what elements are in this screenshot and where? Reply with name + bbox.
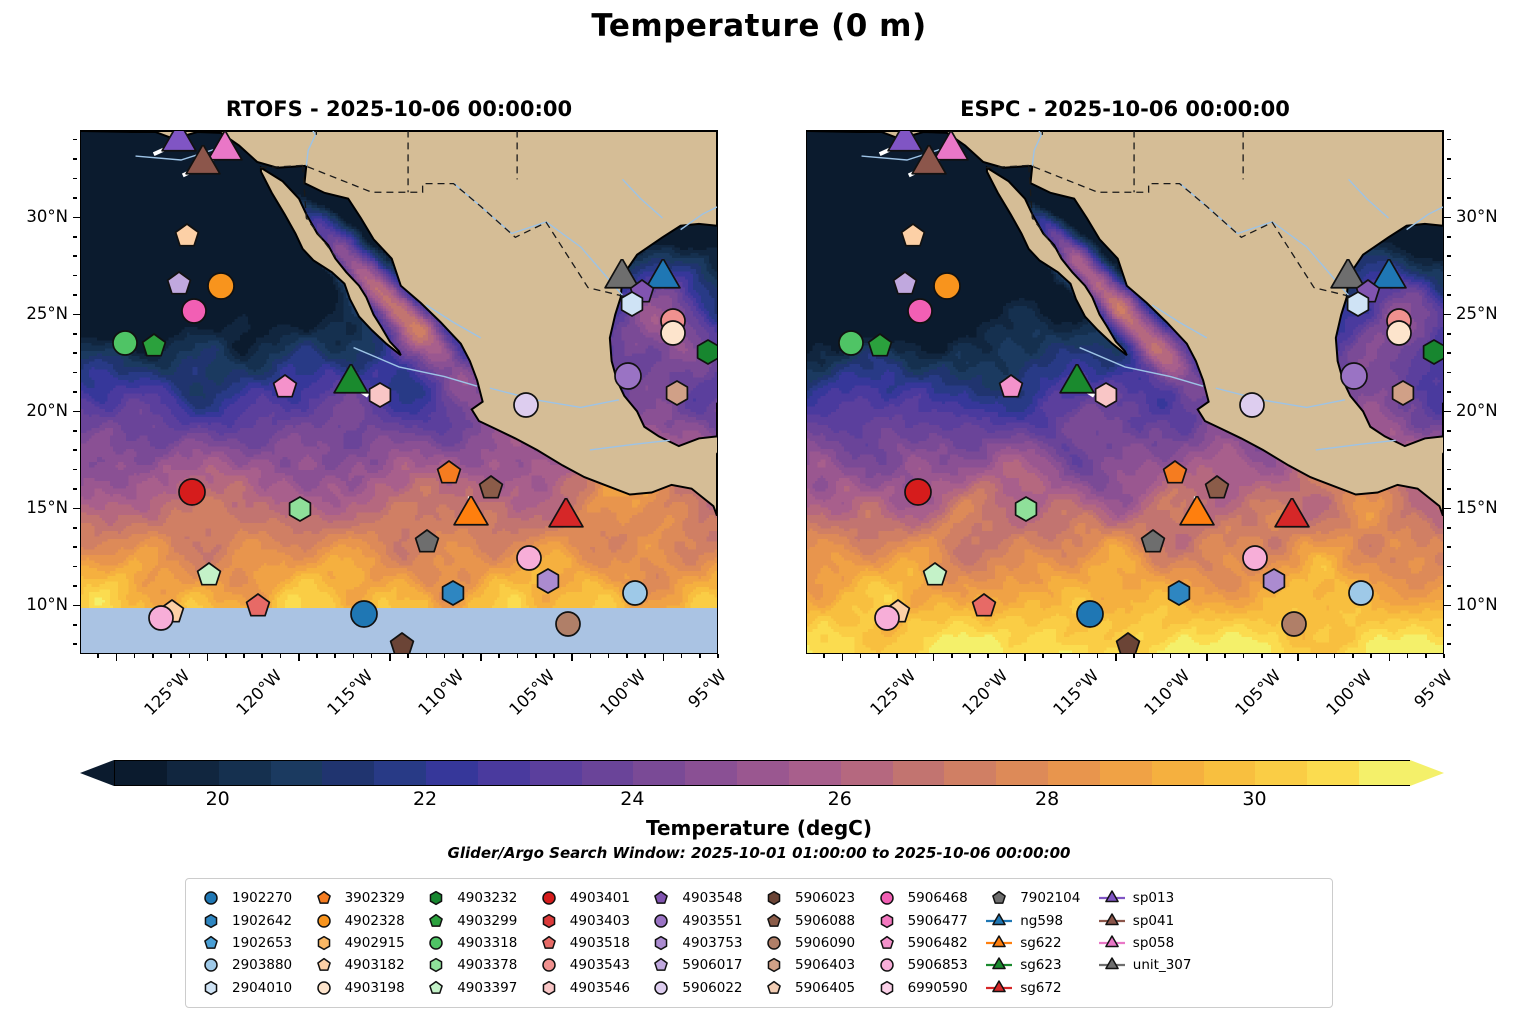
ytick-minor — [1447, 624, 1451, 626]
xtick-label: 115°W — [1049, 666, 1102, 719]
xtick-minor — [915, 654, 917, 658]
colorbar-segment — [893, 761, 945, 785]
legend-item-5906023[interactable]: 5906023 — [759, 887, 872, 909]
xtick-minor — [535, 654, 537, 658]
ytick-minor — [73, 488, 77, 490]
map-marker-sg623[interactable] — [1058, 364, 1096, 406]
legend-marker-circle-icon — [196, 955, 226, 975]
xtick-minor — [426, 654, 428, 658]
map-marker-5906403[interactable] — [663, 379, 691, 411]
map-marker-5906022[interactable] — [512, 391, 540, 423]
map-marker-4903551[interactable] — [1339, 361, 1369, 395]
map-canvas-espc — [807, 131, 1443, 653]
figure-root: Temperature (0 m) RTOFS - 2025-10-06 00:… — [0, 0, 1518, 1014]
xtick-minor — [1370, 654, 1372, 658]
legend-marker-circle-icon — [872, 955, 902, 975]
panel-title-rtofs: RTOFS - 2025-10-06 00:00:00 — [80, 97, 718, 121]
legend-item-4903318[interactable]: 4903318 — [421, 932, 534, 954]
ytick-label: 30°N — [0, 207, 68, 226]
map-marker-4903518[interactable] — [970, 592, 998, 624]
colorbar-extend-max — [1410, 760, 1444, 786]
ytick-minor — [1447, 488, 1451, 490]
xtick-minor — [97, 654, 99, 658]
map-marker-4903397[interactable] — [195, 561, 223, 593]
legend-grid: 1902270190264219026532903880290401039023… — [196, 887, 1322, 999]
ytick-major — [73, 508, 80, 510]
map-marker-5906482[interactable] — [271, 373, 299, 405]
legend-marker-hexagon-icon — [196, 978, 226, 998]
colorbar-segment — [582, 761, 634, 785]
legend-label: 4903401 — [570, 890, 630, 906]
legend-label: 5906023 — [795, 890, 855, 906]
ytick-minor — [1447, 527, 1451, 529]
colorbar-segment — [1100, 761, 1152, 785]
legend-marker-pentagon-icon — [196, 933, 226, 953]
ytick-minor — [73, 566, 77, 568]
xtick-minor — [1006, 654, 1008, 658]
legend-item-4902915[interactable]: 4902915 — [309, 932, 422, 954]
ytick-minor — [73, 139, 77, 141]
legend-label: 4903182 — [345, 957, 405, 973]
xtick-label: 95°W — [685, 666, 731, 712]
legend-marker-hexagon-icon — [759, 955, 789, 975]
ytick-major — [1444, 217, 1451, 219]
ytick-minor — [1447, 158, 1451, 160]
map-frame-espc[interactable] — [806, 130, 1444, 654]
map-marker-2903880[interactable] — [621, 579, 649, 611]
ytick-label: 25°N — [0, 304, 68, 323]
legend-marker-triangle-icon — [1097, 955, 1127, 975]
colorbar-label: Temperature (degC) — [0, 816, 1518, 840]
legend-item-sp013[interactable]: sp013 — [1097, 887, 1210, 909]
map-marker-5906403[interactable] — [1389, 379, 1417, 411]
legend-label: 4903543 — [570, 957, 630, 973]
xtick-minor — [1352, 654, 1354, 658]
legend-marker-pentagon-icon — [872, 933, 902, 953]
map-marker-4903546[interactable] — [1092, 381, 1120, 413]
map-marker-7902104[interactable] — [413, 528, 441, 560]
xtick-minor — [608, 654, 610, 658]
legend-marker-hexagon-icon — [534, 978, 564, 998]
ytick-minor — [1447, 430, 1451, 432]
map-marker-4903378[interactable] — [286, 495, 314, 527]
legend-item-4903546[interactable]: 4903546 — [534, 977, 647, 999]
map-marker-5906022[interactable] — [1238, 391, 1266, 423]
legend-item-sp041[interactable]: sp041 — [1097, 910, 1210, 932]
ytick-minor — [73, 585, 77, 587]
legend-item-2903880[interactable]: 2903880 — [196, 954, 309, 976]
xtick-minor — [134, 654, 136, 658]
map-marker-4903232[interactable] — [1420, 338, 1444, 370]
map-marker-4903182[interactable] — [899, 222, 927, 254]
legend-item-sg672[interactable]: sg672 — [984, 977, 1097, 999]
ytick-label: 25°N — [1456, 304, 1518, 323]
legend-marker-hexagon-icon — [872, 978, 902, 998]
ytick-label: 20°N — [1456, 401, 1518, 420]
xtick-minor — [280, 654, 282, 658]
legend-marker-pentagon-icon — [646, 888, 676, 908]
legend-item-4903401[interactable]: 4903401 — [534, 887, 647, 909]
xtick-minor — [1170, 654, 1172, 658]
map-marker-5906853b[interactable] — [873, 604, 901, 636]
ytick-minor — [1447, 255, 1451, 257]
colorbar-tick-label: 28 — [1035, 788, 1059, 810]
legend-item-unit_307[interactable]: unit_307 — [1097, 954, 1210, 976]
xtick-major — [842, 654, 844, 661]
xtick-minor — [243, 654, 245, 658]
ytick-minor — [73, 255, 77, 257]
xtick-minor — [699, 654, 701, 658]
ytick-major — [73, 411, 80, 413]
legend-marker-circle-icon — [872, 888, 902, 908]
legend-marker-pentagon-icon — [309, 888, 339, 908]
map-marker-3902329[interactable] — [435, 459, 463, 491]
map-marker-7902104[interactable] — [1139, 528, 1167, 560]
xtick-minor — [462, 654, 464, 658]
map-marker-4903397[interactable] — [921, 561, 949, 593]
ytick-minor — [73, 469, 77, 471]
legend-item-1902653[interactable]: 1902653 — [196, 932, 309, 954]
xtick-minor — [1261, 654, 1263, 658]
xtick-major — [480, 654, 482, 661]
colorbar-segment — [271, 761, 323, 785]
colorbar-segment — [685, 761, 737, 785]
map-marker-5906090[interactable] — [554, 610, 582, 642]
xtick-minor — [316, 654, 318, 658]
legend-item-4903548[interactable]: 4903548 — [646, 887, 759, 909]
ytick-minor — [1447, 546, 1451, 548]
legend-item-5906088[interactable]: 5906088 — [759, 910, 872, 932]
ytick-minor — [73, 391, 77, 393]
legend-item-5906403[interactable]: 5906403 — [759, 954, 872, 976]
map-marker-4903401[interactable] — [177, 477, 207, 511]
legend-marker-circle-icon — [421, 933, 451, 953]
legend-label: 4903198 — [345, 980, 405, 996]
map-marker-5906023[interactable] — [388, 631, 416, 654]
legend-item-6990590[interactable]: 6990590 — [872, 977, 985, 999]
legend-item-4903543[interactable]: 4903543 — [534, 954, 647, 976]
figure-suptitle: Temperature (0 m) — [0, 8, 1518, 44]
map-marker-5906482[interactable] — [997, 373, 1025, 405]
legend-label: 5906853 — [908, 957, 968, 973]
xtick-label: 110°W — [414, 666, 467, 719]
legend-marker-circle-icon — [646, 911, 676, 931]
ytick-minor — [73, 546, 77, 548]
colorbar-tick-label: 26 — [828, 788, 852, 810]
map-marker-sp041[interactable] — [184, 145, 222, 187]
legend-label: 5906088 — [795, 913, 855, 929]
ytick-minor — [1447, 178, 1451, 180]
map-marker-4903318[interactable] — [837, 329, 865, 361]
ytick-minor — [1447, 469, 1451, 471]
ytick-minor — [73, 372, 77, 374]
map-marker-2904010[interactable] — [1344, 290, 1372, 322]
map-marker-1902642[interactable] — [1165, 579, 1193, 611]
legend-marker-pentagon-icon — [759, 978, 789, 998]
colorbar-tick-label: 20 — [206, 788, 230, 810]
legend-label: 4903548 — [682, 890, 742, 906]
xtick-minor — [152, 654, 154, 658]
map-marker-sp041[interactable] — [910, 145, 948, 187]
map-marker-4903753[interactable] — [534, 567, 562, 599]
legend-item-5906017[interactable]: 5906017 — [646, 954, 759, 976]
xtick-minor — [590, 654, 592, 658]
colorbar-segment — [167, 761, 219, 785]
legend-label: 6990590 — [908, 980, 968, 996]
xtick-minor — [1133, 654, 1135, 658]
legend-item-sp058[interactable]: sp058 — [1097, 932, 1210, 954]
colorbar-segment — [1204, 761, 1256, 785]
xtick-label: 100°W — [1323, 666, 1376, 719]
legend-label: sp041 — [1133, 913, 1174, 929]
legend-label: sp013 — [1133, 890, 1174, 906]
xtick-label: 125°W — [867, 666, 920, 719]
legend-item-4903378[interactable]: 4903378 — [421, 954, 534, 976]
map-marker-1902270[interactable] — [349, 599, 379, 633]
colorbar-segment — [530, 761, 582, 785]
legend-marker-triangle-icon — [984, 933, 1014, 953]
legend-item-5906468[interactable]: 5906468 — [872, 887, 985, 909]
colorbar-tick-label: 24 — [620, 788, 644, 810]
legend-label: 1902653 — [232, 935, 292, 951]
xtick-label: 105°W — [505, 666, 558, 719]
legend-marker-pentagon-icon — [421, 978, 451, 998]
colorbar-segment — [633, 761, 685, 785]
map-panel-espc: ESPC - 2025-10-06 00:00:00 125°W120°W115… — [806, 130, 1444, 654]
legend-marker-circle-icon — [646, 978, 676, 998]
legend-marker-pentagon-icon — [534, 933, 564, 953]
legend-marker-circle-icon — [534, 888, 564, 908]
ytick-minor — [73, 624, 77, 626]
ytick-label: 10°N — [0, 595, 68, 614]
map-marker-sg672[interactable] — [1273, 498, 1311, 540]
legend-marker-circle-icon — [196, 888, 226, 908]
ytick-minor — [73, 275, 77, 277]
xtick-minor — [1334, 654, 1336, 658]
ytick-major — [1444, 508, 1451, 510]
xtick-minor — [1042, 654, 1044, 658]
legend-marker-pentagon-icon — [309, 955, 339, 975]
ytick-minor — [1447, 449, 1451, 451]
xtick-label: 110°W — [1140, 666, 1193, 719]
ytick-major — [73, 217, 80, 219]
colorbar-segment — [219, 761, 271, 785]
legend-item-5906482[interactable]: 5906482 — [872, 932, 985, 954]
map-marker-4903299[interactable] — [866, 332, 894, 364]
search-window-text: Glider/Argo Search Window: 2025-10-01 01… — [0, 844, 1518, 862]
map-marker-4903518[interactable] — [244, 592, 272, 624]
xtick-minor — [626, 654, 628, 658]
ytick-minor — [73, 527, 77, 529]
legend-marker-triangle-icon — [984, 911, 1014, 931]
legend-label: 4903546 — [570, 980, 630, 996]
map-marker-4902328[interactable] — [206, 271, 236, 305]
legend-item-4903403[interactable]: 4903403 — [534, 910, 647, 932]
xtick-minor — [1279, 654, 1281, 658]
legend-label: 2903880 — [232, 957, 292, 973]
legend-item-4903198[interactable]: 4903198 — [309, 977, 422, 999]
legend-item-5906022[interactable]: 5906022 — [646, 977, 759, 999]
legend-item-1902642[interactable]: 1902642 — [196, 910, 309, 932]
xtick-major — [1115, 654, 1117, 661]
legend-item-5906090[interactable]: 5906090 — [759, 932, 872, 954]
xtick-minor — [987, 654, 989, 658]
xtick-minor — [261, 654, 263, 658]
xtick-minor — [498, 654, 500, 658]
colorbar-segment — [374, 761, 426, 785]
xtick-major — [116, 654, 118, 661]
legend-item-2904010[interactable]: 2904010 — [196, 977, 309, 999]
map-marker-5906468[interactable] — [180, 297, 208, 329]
xtick-major — [1297, 654, 1299, 661]
legend-label: 4903397 — [457, 980, 517, 996]
legend-label: 7902104 — [1020, 890, 1080, 906]
legend-label: 4903551 — [682, 913, 742, 929]
legend-marker-hexagon-icon — [421, 888, 451, 908]
legend-marker-circle-icon — [759, 933, 789, 953]
legend-item-sg622[interactable]: sg622 — [984, 932, 1097, 954]
map-marker-3902329[interactable] — [1161, 459, 1189, 491]
map-marker-4903401[interactable] — [903, 477, 933, 511]
map-marker-5906853b[interactable] — [147, 604, 175, 636]
xtick-minor — [1243, 654, 1245, 658]
legend-label: 1902270 — [232, 890, 292, 906]
legend-item-4903232[interactable]: 4903232 — [421, 887, 534, 909]
legend-item-5906405[interactable]: 5906405 — [759, 977, 872, 999]
legend-item-1902270[interactable]: 1902270 — [196, 887, 309, 909]
map-marker-2904010[interactable] — [618, 290, 646, 322]
xtick-major — [933, 654, 935, 661]
legend-marker-pentagon-icon — [421, 911, 451, 931]
xtick-minor — [717, 654, 719, 658]
xtick-minor — [823, 654, 825, 658]
ytick-minor — [73, 158, 77, 160]
map-marker-4903318[interactable] — [111, 329, 139, 361]
legend-marker-hexagon-icon — [646, 933, 676, 953]
map-marker-sg623[interactable] — [332, 364, 370, 406]
legend-item-ng598[interactable]: ng598 — [984, 910, 1097, 932]
map-marker-1902270[interactable] — [1075, 599, 1105, 633]
legend-marker-circle-icon — [309, 978, 339, 998]
map-marker-4902328[interactable] — [932, 271, 962, 305]
map-marker-4903198[interactable] — [659, 319, 687, 351]
xtick-minor — [1097, 654, 1099, 658]
colorbar-segment — [322, 761, 374, 785]
legend-label: 1902642 — [232, 913, 292, 929]
legend-label: sg672 — [1020, 980, 1061, 996]
legend-item-7902104[interactable]: 7902104 — [984, 887, 1097, 909]
legend-item-4903518[interactable]: 4903518 — [534, 932, 647, 954]
ytick-label: 20°N — [0, 401, 68, 420]
legend-marker-pentagon-icon — [646, 955, 676, 975]
legend-label: 5906017 — [682, 957, 742, 973]
legend-item-5906853[interactable]: 5906853 — [872, 954, 985, 976]
ytick-minor — [1447, 139, 1451, 141]
map-marker-4903551[interactable] — [613, 361, 643, 395]
map-marker-1902642[interactable] — [439, 579, 467, 611]
legend-item-sg623[interactable]: sg623 — [984, 954, 1097, 976]
legend-item-3902329[interactable]: 3902329 — [309, 887, 422, 909]
xtick-minor — [1443, 654, 1445, 658]
legend-marker-hexagon-icon — [309, 933, 339, 953]
ytick-minor — [1447, 236, 1451, 238]
xtick-minor — [1425, 654, 1427, 658]
map-marker-4903232[interactable] — [694, 338, 718, 370]
colorbar-segment — [115, 761, 167, 785]
map-marker-5906023[interactable] — [1114, 631, 1142, 654]
map-marker-4903299[interactable] — [140, 332, 168, 364]
legend-label: sg623 — [1020, 957, 1061, 973]
legend-label: 4902915 — [345, 935, 405, 951]
map-frame-rtofs[interactable] — [80, 130, 718, 654]
xtick-minor — [860, 654, 862, 658]
map-marker-sg672[interactable] — [547, 498, 585, 540]
ytick-minor — [73, 643, 77, 645]
ytick-minor — [73, 178, 77, 180]
ytick-major — [73, 314, 80, 316]
legend-marker-circle-icon — [534, 955, 564, 975]
ytick-minor — [73, 352, 77, 354]
colorbar-segment — [996, 761, 1048, 785]
legend-label: 5906403 — [795, 957, 855, 973]
map-marker-sg622[interactable] — [452, 496, 490, 538]
legend-item-4903182[interactable]: 4903182 — [309, 954, 422, 976]
legend-item-4902328[interactable]: 4902328 — [309, 910, 422, 932]
xtick-label: 100°W — [597, 666, 650, 719]
map-marker-4903753[interactable] — [1260, 567, 1288, 599]
map-marker-4903546[interactable] — [366, 381, 394, 413]
xtick-major — [298, 654, 300, 661]
legend-item-4903551[interactable]: 4903551 — [646, 910, 759, 932]
legend-marker-pentagon-icon — [759, 911, 789, 931]
xtick-label: 120°W — [958, 666, 1011, 719]
xtick-minor — [644, 654, 646, 658]
legend-item-5906477[interactable]: 5906477 — [872, 910, 985, 932]
map-marker-5906468[interactable] — [906, 297, 934, 329]
xtick-label: 115°W — [323, 666, 376, 719]
legend-marker-triangle-icon — [1097, 933, 1127, 953]
map-marker-4903198[interactable] — [1385, 319, 1413, 351]
xtick-minor — [517, 654, 519, 658]
legend-item-4903753[interactable]: 4903753 — [646, 932, 759, 954]
xtick-minor — [1079, 654, 1081, 658]
colorbar-segment — [1048, 761, 1100, 785]
map-marker-sg622[interactable] — [1178, 496, 1216, 538]
map-marker-4903182[interactable] — [173, 222, 201, 254]
map-marker-2903880[interactable] — [1347, 579, 1375, 611]
ytick-minor — [73, 333, 77, 335]
colorbar-extend-min — [80, 760, 114, 786]
colorbar-segment — [1307, 761, 1359, 785]
legend-label: 4903753 — [682, 935, 742, 951]
colorbar-tick-label: 22 — [413, 788, 437, 810]
map-canvas-rtofs — [81, 131, 717, 653]
legend-label: 4903378 — [457, 957, 517, 973]
ytick-major — [1444, 314, 1451, 316]
legend-item-4903299[interactable]: 4903299 — [421, 910, 534, 932]
legend-label: ng598 — [1020, 913, 1063, 929]
xtick-minor — [1316, 654, 1318, 658]
legend-item-4903397[interactable]: 4903397 — [421, 977, 534, 999]
map-marker-4903378[interactable] — [1012, 495, 1040, 527]
xtick-minor — [878, 654, 880, 658]
xtick-minor — [1188, 654, 1190, 658]
xtick-minor — [951, 654, 953, 658]
map-marker-5906090[interactable] — [1280, 610, 1308, 642]
ytick-minor — [1447, 372, 1451, 374]
colorbar-segment — [944, 761, 996, 785]
legend-marker-triangle-icon — [1097, 911, 1127, 931]
